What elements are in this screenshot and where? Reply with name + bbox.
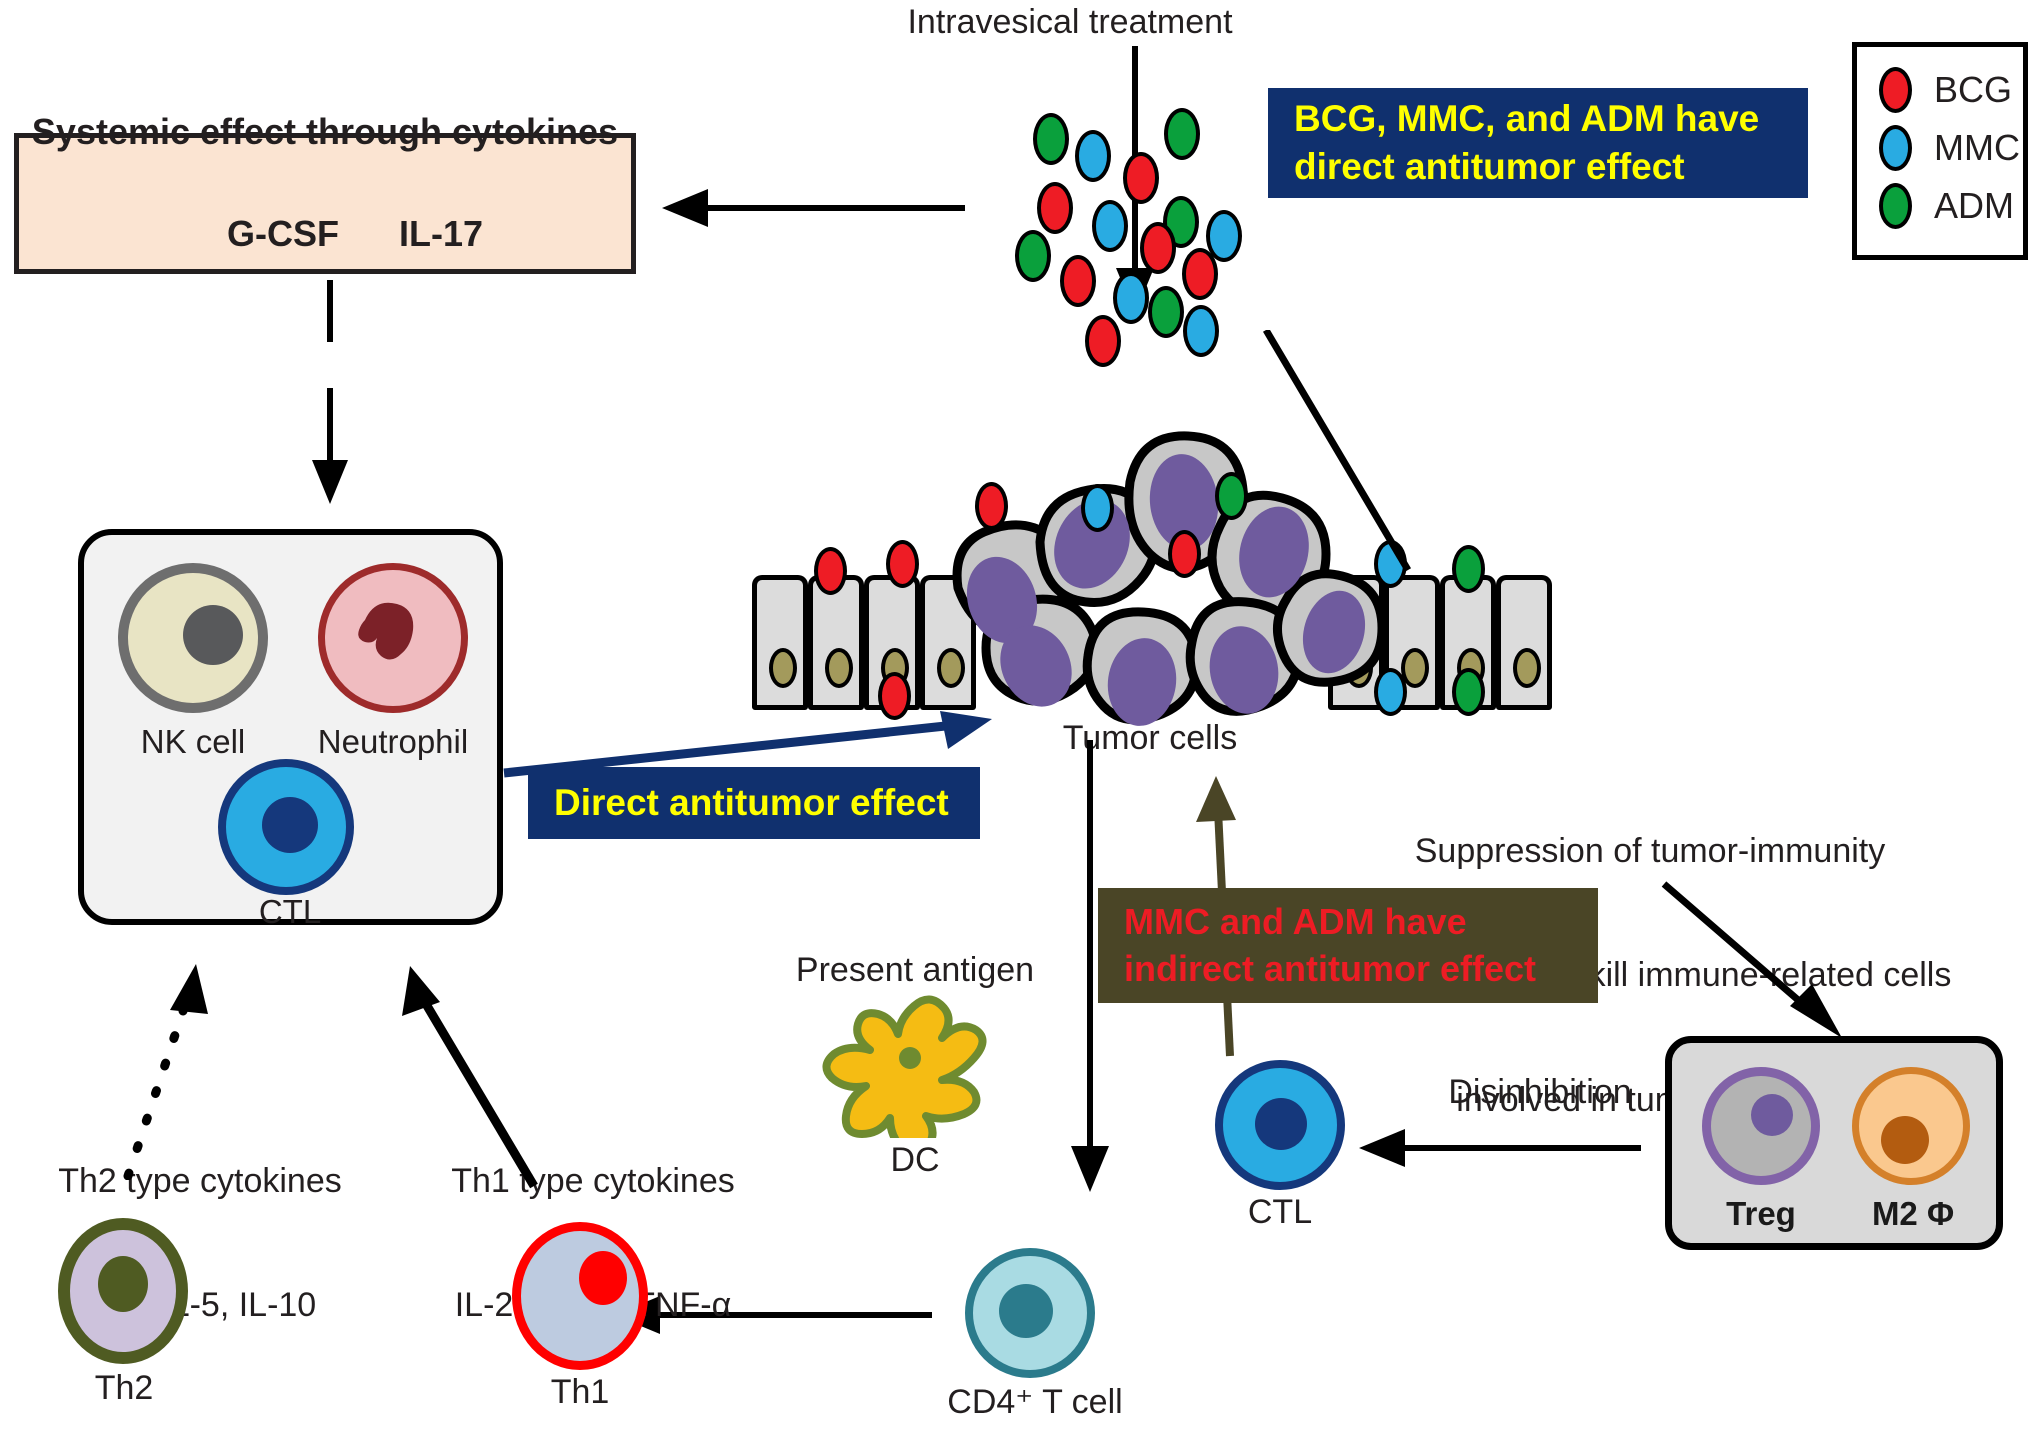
bcg-particle	[886, 540, 919, 588]
cluster-to-epithelium-line	[1230, 330, 1530, 610]
systemic-cytokines: G-CSFIL-17	[167, 171, 483, 297]
cd4-t-cell-label: CD4⁺ T cell	[930, 1382, 1140, 1423]
urothelium-cell	[808, 575, 864, 710]
mmc-particle	[1081, 484, 1114, 532]
bcg-particle	[1085, 315, 1121, 367]
blue-ellipse-icon	[1879, 125, 1912, 171]
adm-particle	[1452, 668, 1485, 716]
immune-effector-box: NK cell Neutrophil CTL	[78, 529, 503, 925]
urothelium-nucleus	[825, 648, 853, 688]
tumor-cells-label: Tumor cells	[1000, 718, 1300, 759]
treg-label: Treg	[1686, 1195, 1836, 1233]
bcg-particle	[1037, 182, 1073, 234]
m2-macrophage-shape	[1852, 1067, 1970, 1185]
th2-label: Th2	[44, 1368, 204, 1409]
treg-cell-shape	[1702, 1067, 1820, 1185]
cd4-t-cell-nucleus	[999, 1284, 1053, 1338]
th1-label: Th1	[500, 1372, 660, 1413]
ctl-right-label: CTL	[1190, 1192, 1370, 1233]
cytokine-gcsf: G-CSF	[227, 213, 339, 254]
bcg-particle	[1168, 530, 1201, 578]
callout-direct-line1: BCG, MMC, and ADM have	[1294, 95, 1808, 143]
ctl-cell-shape	[218, 759, 354, 895]
urothelium-cell	[752, 575, 808, 710]
th1-cell-shape	[512, 1222, 648, 1370]
th2-cell-nucleus	[98, 1256, 148, 1312]
drug-legend: BCG MMC ADM	[1852, 42, 2028, 260]
dc-label: DC	[820, 1140, 1010, 1181]
legend-label-bcg: BCG	[1934, 69, 2012, 111]
mmc-particle	[1183, 305, 1219, 357]
bcg-particle	[975, 482, 1008, 530]
diagram-canvas: Intravesical treatment BCG MMC ADM BCG, …	[0, 0, 2032, 1430]
treg-cell-nucleus	[1751, 1094, 1793, 1136]
m2-macrophage-nucleus	[1881, 1116, 1929, 1164]
m2-macrophage-label: M2 Φ	[1838, 1195, 1988, 1233]
legend-item-adm: ADM	[1879, 177, 2023, 235]
bcg-particle	[1060, 255, 1096, 307]
legend-label-adm: ADM	[1934, 185, 2014, 227]
nk-cell-label: NK cell	[98, 723, 288, 761]
th1-cell-nucleus	[579, 1251, 627, 1305]
suppression-to-treg-arrow	[1660, 880, 1880, 1060]
callout-direct-line2: direct antitumor effect	[1294, 143, 1808, 191]
adm-particle	[1164, 108, 1200, 160]
dendritic-cell-shape	[810, 988, 1025, 1138]
bcg-particle	[1140, 222, 1176, 274]
systemic-title: Systemic effect through cytokines	[32, 111, 618, 153]
th2-to-immune-dotted-arrow	[100, 940, 240, 1180]
legend-item-mmc: MMC	[1879, 119, 2023, 177]
systemic-left-arrow	[650, 178, 970, 238]
bcg-particle	[1123, 152, 1159, 204]
urothelium-nucleus	[1513, 648, 1541, 688]
legend-item-bcg: BCG	[1879, 61, 2023, 119]
ctl-right-shape	[1215, 1060, 1345, 1190]
systemic-effect-box: Systemic effect through cytokines G-CSFI…	[14, 133, 636, 274]
urothelium-nucleus	[769, 648, 797, 688]
disinhibition-label: Disinhibition	[1390, 1072, 1690, 1113]
cd4-t-cell-shape	[965, 1248, 1095, 1378]
adm-particle	[1015, 230, 1051, 282]
present-antigen-label: Present antigen	[740, 950, 1090, 991]
red-ellipse-icon	[1879, 67, 1912, 113]
callout-direct-left-label: Direct antitumor effect	[554, 779, 980, 827]
callout-direct-antitumor-left: Direct antitumor effect	[528, 767, 980, 839]
green-ellipse-icon	[1879, 183, 1912, 229]
mmc-particle	[1113, 272, 1149, 324]
neutrophil-nucleus	[323, 568, 463, 708]
mmc-particle	[1374, 668, 1407, 716]
suppression-line1: Suppression of tumor-immunity	[1290, 831, 2010, 872]
disinhibition-arrow	[1345, 1120, 1645, 1180]
nk-cell-nucleus	[183, 605, 243, 665]
bcg-particle	[878, 672, 911, 720]
th1-to-immune-arrow	[370, 940, 550, 1190]
adm-particle	[1148, 286, 1184, 338]
callout-indirect-line2: indirect antitumor effect	[1124, 946, 1598, 993]
th2-cell-shape	[58, 1218, 188, 1364]
systemic-to-immune-arrow	[300, 280, 360, 510]
ctl-right-nucleus	[1255, 1098, 1307, 1150]
callout-indirect-antitumor: MMC and ADM have indirect antitumor effe…	[1098, 888, 1598, 1003]
callout-direct-antitumor-top: BCG, MMC, and ADM have direct antitumor …	[1268, 88, 1808, 198]
bcg-particle	[814, 547, 847, 595]
adm-particle	[1033, 113, 1069, 165]
bcg-particle	[1182, 248, 1218, 300]
nk-cell-shape	[118, 563, 268, 713]
neutrophil-label: Neutrophil	[288, 723, 498, 761]
ctl-cell-nucleus	[262, 797, 318, 853]
legend-label-mmc: MMC	[1934, 127, 2020, 169]
callout-indirect-line1: MMC and ADM have	[1124, 899, 1598, 946]
treg-m2-box: Treg M2 Φ	[1665, 1036, 2003, 1250]
neutrophil-shape	[318, 563, 468, 713]
ctl-cell-label: CTL	[200, 893, 380, 931]
cytokine-il17: IL-17	[399, 213, 483, 254]
mmc-particle	[1075, 130, 1111, 182]
mmc-particle	[1092, 200, 1128, 252]
